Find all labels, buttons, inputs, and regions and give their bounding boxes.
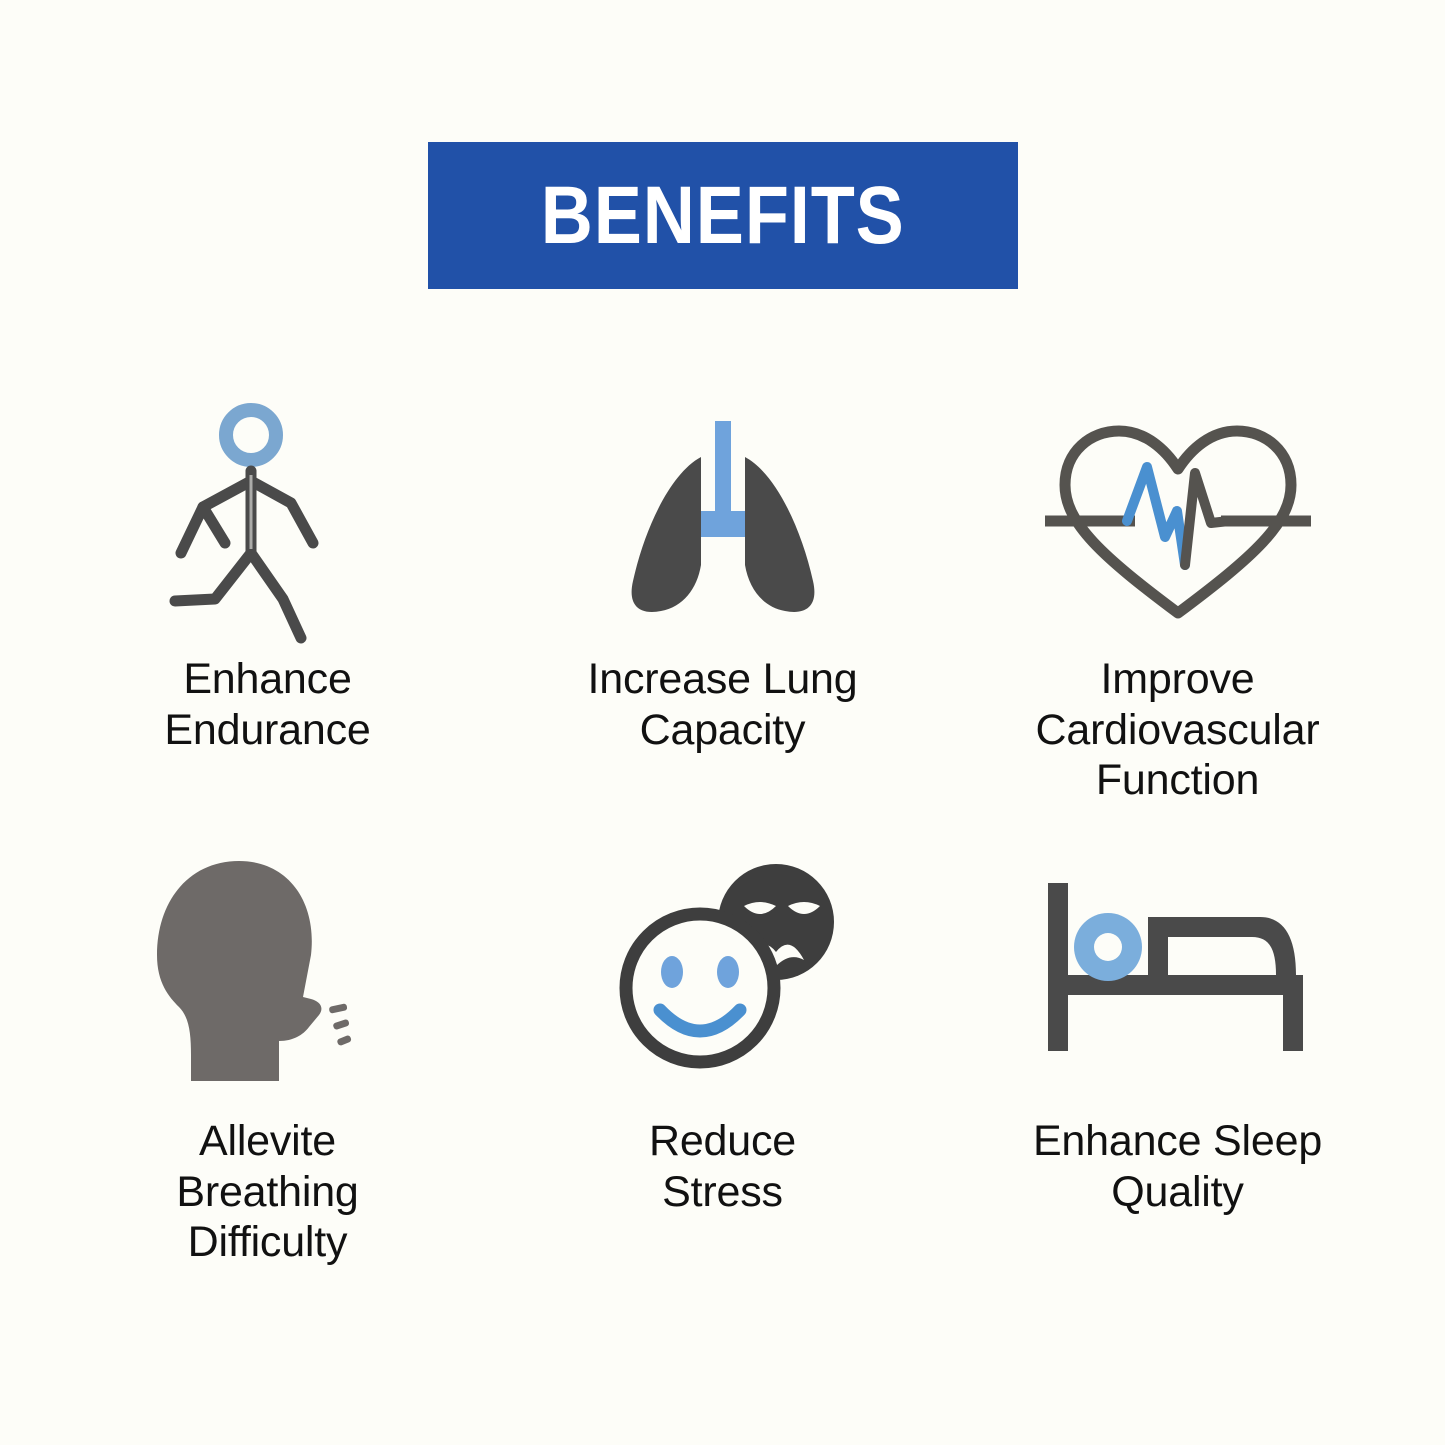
benefit-caption: Enhance Endurance [164,654,370,755]
benefit-caption: Increase Lung Capacity [588,654,858,755]
caption-line-1: Enhance [164,654,370,705]
icon-container [40,850,495,1090]
benefit-card-reduce-stress: Reduce Stress [495,850,950,1300]
benefit-caption: Enhance Sleep Quality [1033,1116,1322,1217]
caption-line-2: Cardiovascular [1036,705,1320,756]
header-banner: BENEFITS [428,142,1018,289]
benefit-card-enhance-endurance: Enhance Endurance [40,400,495,850]
benefit-caption: Allevite Breathing Difficulty [176,1116,358,1268]
heart-pulse-icon [1043,415,1313,625]
caption-line-2: Breathing [176,1167,358,1218]
caption-line-3: Difficulty [176,1217,358,1268]
benefit-caption: Reduce Stress [649,1116,796,1217]
icon-container [495,850,950,1090]
icon-container [950,400,1405,640]
benefit-card-increase-lung-capacity: Increase Lung Capacity [495,400,950,850]
walking-person-icon [163,403,373,638]
benefit-card-allevite-breathing-difficulty: Allevite Breathing Difficulty [40,850,495,1300]
caption-line-1: Allevite [176,1116,358,1167]
benefit-caption: Improve Cardiovascular Function [1036,654,1320,806]
icon-container [950,850,1405,1090]
breath-marks [328,1003,351,1046]
caption-line-2: Capacity [588,705,858,756]
benefits-infographic: BENEFITS [0,0,1445,1445]
caption-line-2: Endurance [164,705,370,756]
caption-line-1: Increase Lung [588,654,858,705]
caption-line-3: Function [1036,755,1320,806]
benefits-grid: Enhance Endurance Increase Lung Capacity [40,400,1405,1300]
caption-line-1: Enhance Sleep [1033,1116,1322,1167]
benefit-card-improve-cardiovascular-function: Improve Cardiovascular Function [950,400,1405,850]
mood-faces-icon [598,860,848,1080]
breathing-head-icon [143,855,393,1085]
caption-line-1: Improve [1036,654,1320,705]
icon-container [495,400,950,640]
lungs-icon [593,415,853,625]
bed-sleep-icon [1040,875,1315,1065]
benefit-card-enhance-sleep-quality: Enhance Sleep Quality [950,850,1405,1300]
smiley-face-icon [626,914,774,1062]
caption-line-2: Quality [1033,1167,1322,1218]
caption-line-2: Stress [649,1167,796,1218]
header-region: BENEFITS [0,142,1445,289]
icon-container [40,400,495,640]
caption-line-1: Reduce [649,1116,796,1167]
page-title: BENEFITS [541,175,905,257]
